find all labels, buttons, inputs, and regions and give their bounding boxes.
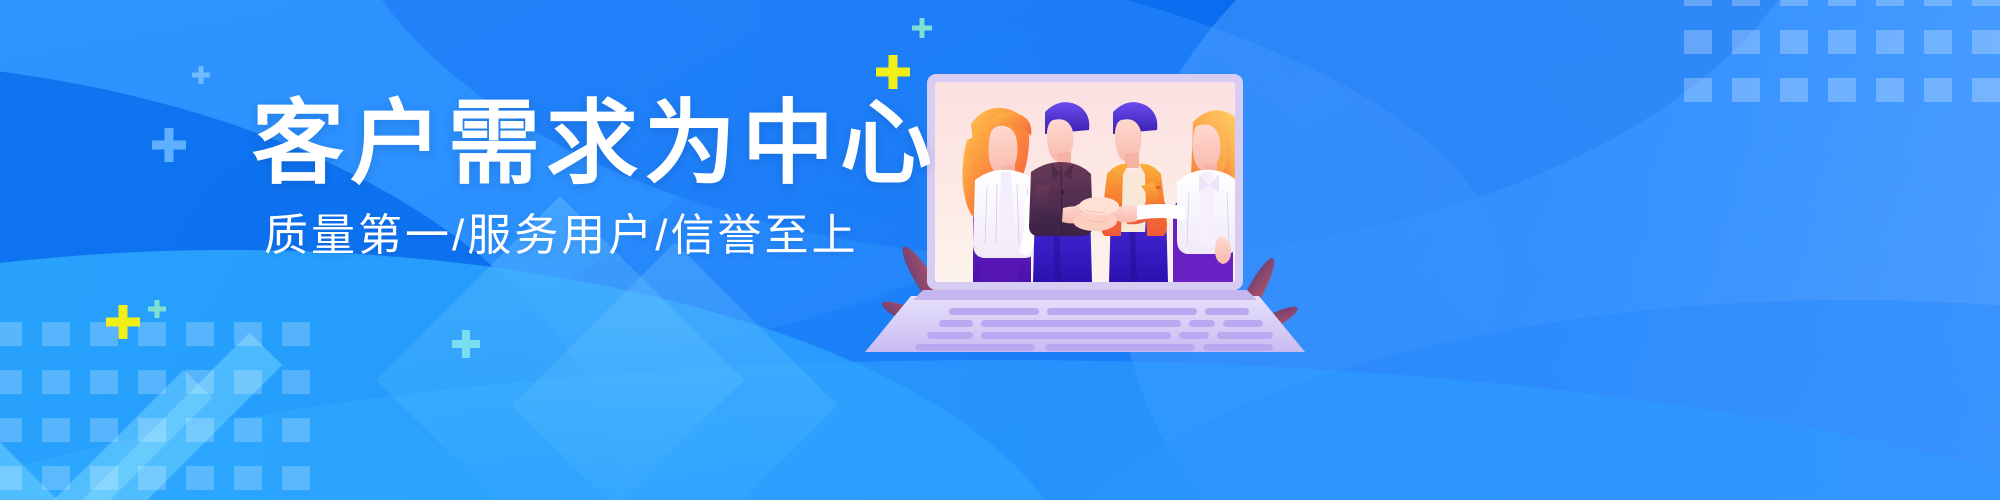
laptop-illustration — [905, 60, 1325, 360]
banner-subline: 质量第一/服务用户/信誉至上 — [264, 212, 938, 260]
cross-blue-large-left — [152, 128, 186, 162]
bg-chevron-2 — [0, 186, 212, 500]
promo-banner: 客户需求为中心 质量第一/服务用户/信誉至上 — [0, 0, 2000, 500]
cross-teal-bottom-mid — [452, 330, 480, 358]
bg-mountain-2 — [512, 242, 837, 500]
cross-teal-bottom-left — [148, 300, 166, 318]
cross-yellow-bottom-left — [106, 305, 140, 339]
bg-chevron-1 — [0, 153, 282, 500]
cross-teal-small — [912, 18, 932, 38]
laptop-screen-content — [935, 82, 1244, 282]
banner-copy: 客户需求为中心 质量第一/服务用户/信誉至上 — [252, 96, 938, 260]
cross-blue-small-left — [192, 66, 210, 84]
banner-headline: 客户需求为中心 — [252, 96, 938, 194]
square-grid-top-right — [1684, 0, 2000, 116]
bg-wave-bottom-wide — [0, 360, 2000, 500]
laptop-hinge — [913, 290, 1257, 300]
square-grid-bottom-left — [0, 322, 320, 500]
